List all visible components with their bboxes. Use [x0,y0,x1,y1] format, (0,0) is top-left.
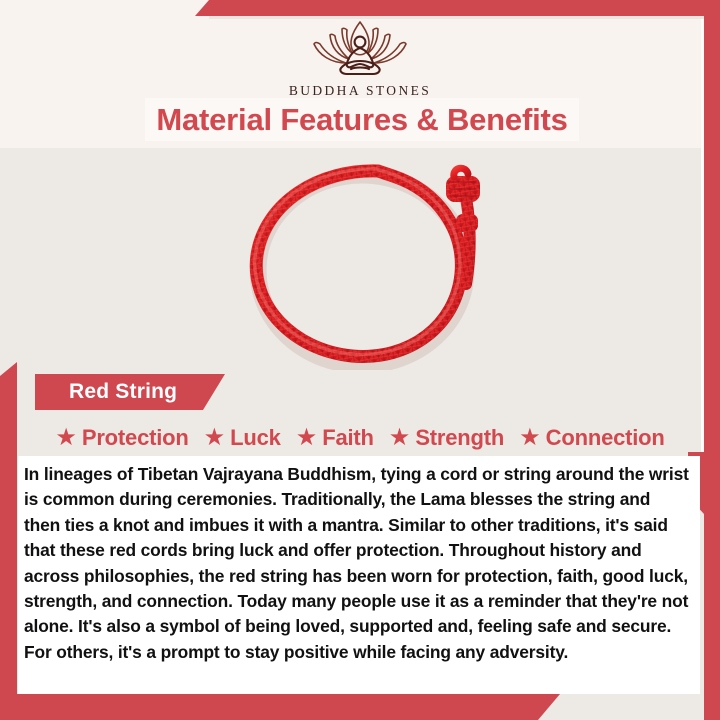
feature-label-protection: Protection [82,425,189,451]
page-title: Material Features & Benefits [156,102,567,138]
material-name-label: Red String [35,380,177,404]
star-icon: ★ [389,426,411,450]
feature-label-connection: Connection [546,425,665,451]
feature-benefit-list: ★ Protection ★ Luck ★ Faith ★ Strength ★… [18,420,702,456]
description-panel: In lineages of Tibetan Vajrayana Buddhis… [18,456,700,694]
bottom-red-accent-band [0,694,560,720]
feature-item-luck: ★ Luck [204,425,281,451]
page-title-banner: Material Features & Benefits [145,98,579,141]
feature-label-faith: Faith [322,425,374,451]
description-text: In lineages of Tibetan Vajrayana Buddhis… [24,462,690,665]
star-icon: ★ [55,426,77,450]
star-icon: ★ [519,426,541,450]
material-name-ribbon: Red String [35,374,225,410]
right-red-accent-band [704,16,720,720]
product-image-red-string-bracelet [228,158,496,370]
star-icon: ★ [296,426,318,450]
top-red-accent-bar [195,0,720,16]
left-red-accent-band [0,362,17,720]
feature-item-protection: ★ Protection [55,425,188,451]
feature-label-strength: Strength [415,425,504,451]
brand-logo: BUDDHA STONES [0,18,720,99]
feature-label-luck: Luck [230,425,281,451]
infographic-page: BUDDHA STONES Material Features & Benefi… [0,0,720,720]
feature-item-faith: ★ Faith [296,425,374,451]
lotus-meditation-icon [301,18,419,80]
feature-item-connection: ★ Connection [519,425,665,451]
brand-name: BUDDHA STONES [289,83,431,99]
feature-item-strength: ★ Strength [389,425,504,451]
star-icon: ★ [204,426,226,450]
